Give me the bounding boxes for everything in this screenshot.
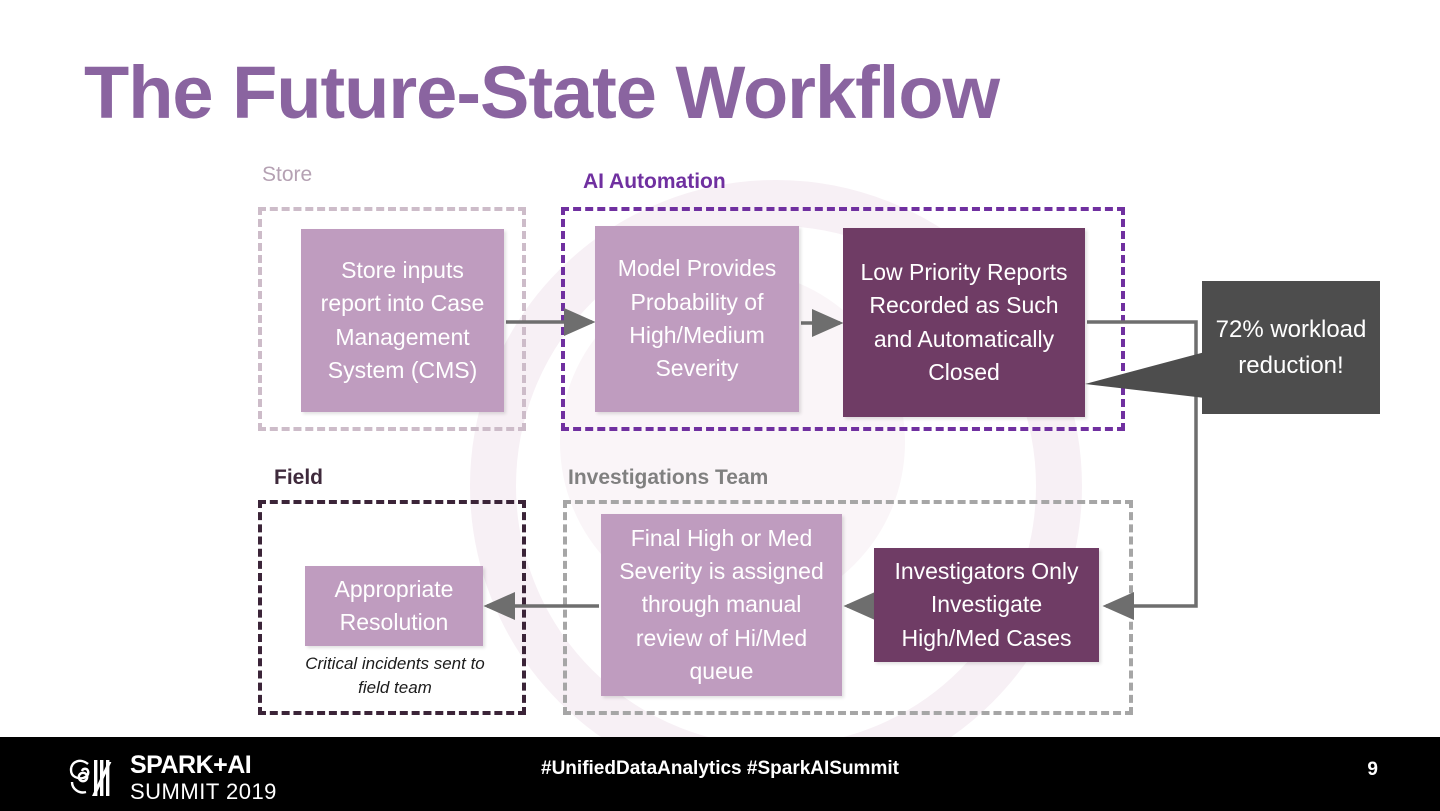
process-box-investigators-high-med[interactable]: Investigators Only Investigate High/Med … (874, 548, 1099, 662)
lane-label-ai-automation: AI Automation (583, 170, 726, 194)
process-box-low-priority-auto-closed[interactable]: Low Priority Reports Recorded as Such an… (843, 228, 1085, 417)
page-number: 9 (1367, 759, 1378, 781)
lane-label-store: Store (262, 163, 312, 187)
footer-hashtags: #UnifiedDataAnalytics #SparkAISummit (0, 758, 1440, 780)
slide-canvas: The Future-State Workflow Store AI Autom… (0, 0, 1440, 811)
process-box-model-provides-probability[interactable]: Model Provides Probability of High/Mediu… (595, 226, 799, 412)
lane-label-investigations-team: Investigations Team (568, 466, 768, 490)
logo-line-summit-2019: SUMMIT 2019 (130, 781, 277, 803)
callout-workload-reduction: 72% workload reduction! (1202, 281, 1380, 414)
footer-bar: SPARK+AI SUMMIT 2019 #UnifiedDataAnalyti… (0, 737, 1440, 811)
process-box-final-severity-assigned[interactable]: Final High or Med Severity is assigned t… (601, 514, 842, 696)
caption-critical-incidents: Critical incidents sent to field team (305, 652, 485, 700)
lane-label-field: Field (274, 466, 323, 490)
process-box-store-inputs[interactable]: Store inputs report into Case Management… (301, 229, 504, 412)
process-box-appropriate-resolution[interactable]: Appropriate Resolution (305, 566, 483, 646)
page-title: The Future-State Workflow (84, 52, 999, 133)
